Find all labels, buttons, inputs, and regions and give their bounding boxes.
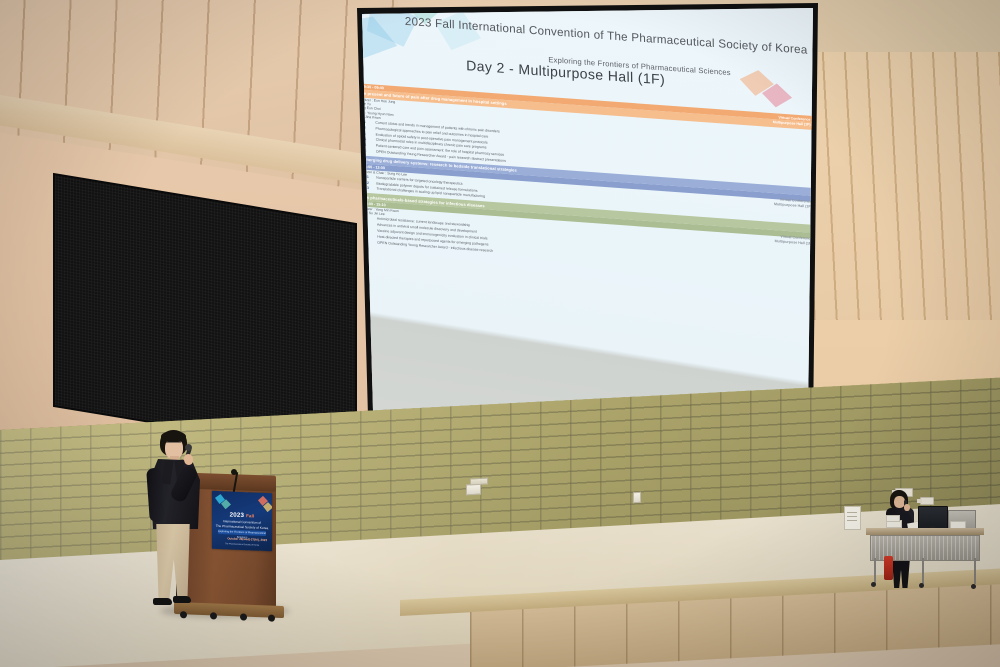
paper-stack	[886, 515, 900, 522]
projected-slide: The Pharmaceutical Society of Korea 2023…	[352, 2, 820, 430]
speaker-glasses-icon	[166, 442, 181, 447]
desk-caster	[871, 582, 876, 587]
banner-organizer: The Pharmaceutical Society of Korea	[212, 543, 272, 548]
banner-theme-strip: Exploring the Frontiers of Pharmaceutica…	[218, 529, 266, 536]
wall-outlet[interactable]	[633, 492, 641, 503]
microphone-head-icon	[185, 444, 192, 451]
schedule-table: Time : 09:30 - 09:40S1 - The present and…	[352, 83, 819, 279]
wall-plate	[470, 478, 488, 486]
podium-microphone-icon	[231, 469, 237, 475]
podium-caster	[240, 613, 247, 620]
desk-leg	[874, 558, 876, 584]
desk-caster	[919, 583, 924, 588]
speaker-presenter	[140, 430, 210, 620]
notice-sign	[844, 506, 861, 530]
podium-banner: 2023 Fall International Convention of Th…	[212, 491, 272, 552]
speaker-shoe-left	[153, 598, 172, 605]
operator-hand	[904, 504, 910, 511]
auditorium-stage-photo: The Pharmaceutical Society of Korea 2023…	[0, 0, 1000, 667]
desk-leg	[922, 558, 924, 584]
desk-leg	[974, 558, 976, 584]
fire-extinguisher-icon	[884, 556, 893, 580]
speaker-fringe	[161, 431, 186, 442]
desk-caster	[971, 584, 976, 589]
operations-desk	[866, 528, 986, 586]
banner-date: October 26(wed)-27(fri), 2023	[212, 536, 272, 543]
desk-top	[866, 528, 984, 535]
podium-caster	[210, 612, 217, 619]
podium-caster	[268, 614, 275, 621]
wall-outlet[interactable]	[466, 484, 481, 496]
projection-screen: The Pharmaceutical Society of Korea 2023…	[352, 2, 822, 432]
speaker-trousers	[154, 524, 192, 600]
screen-surface: The Pharmaceutical Society of Korea 2023…	[352, 2, 820, 430]
speaker-shoe-right	[173, 596, 191, 603]
